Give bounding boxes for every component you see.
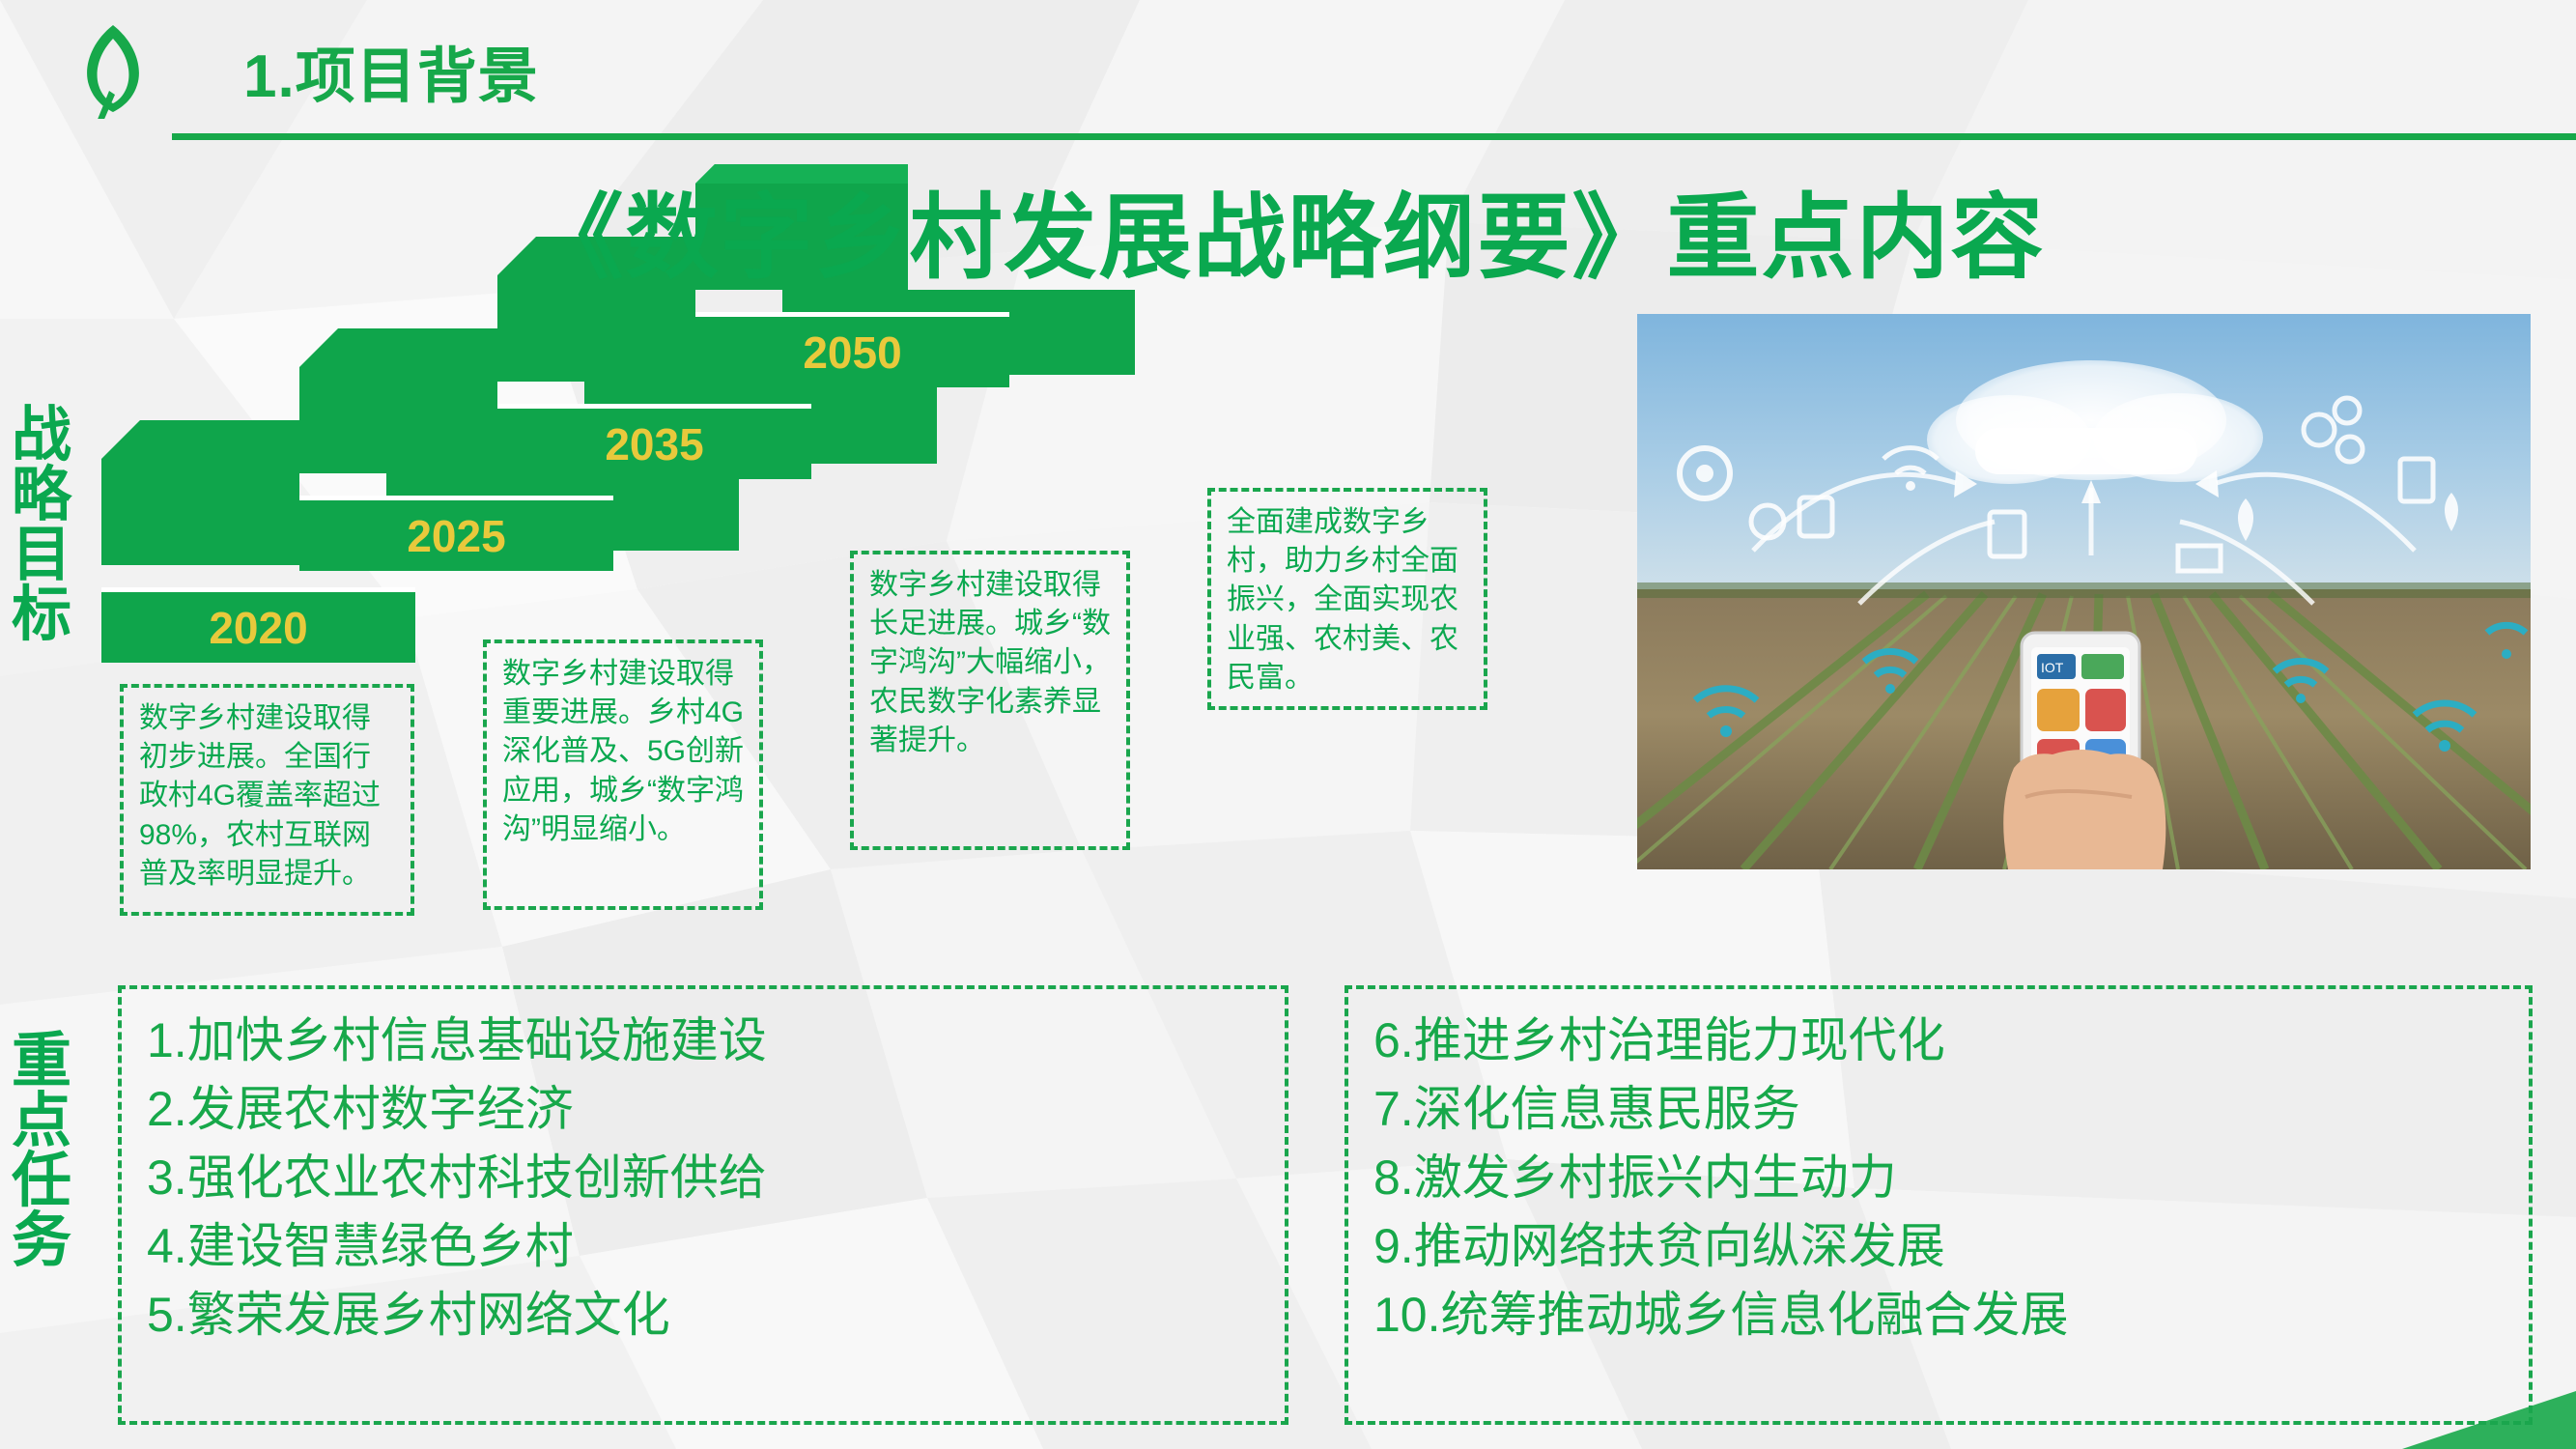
list-item: 1.加快乡村信息基础设施建设 — [147, 1007, 1260, 1075]
leaf-icon — [70, 17, 156, 119]
vlabel-char: 略 — [8, 466, 75, 526]
vlabel-char: 任 — [8, 1151, 75, 1211]
vlabel-char: 标 — [8, 585, 75, 645]
list-item: 2.发展农村数字经济 — [147, 1075, 1260, 1144]
timeline-year-2025: 2025 — [299, 496, 613, 571]
list-item: 4.建设智慧绿色乡村 — [147, 1212, 1260, 1281]
header-divider — [172, 133, 2576, 140]
list-item: 8.激发乡村振兴内生动力 — [1373, 1144, 2504, 1212]
page-title: 1.项目背景 — [243, 27, 539, 114]
year-text: 2050 — [803, 327, 901, 379]
year-text: 2035 — [605, 418, 703, 470]
list-item: 9.推动网络扶贫向纵深发展 — [1373, 1212, 2504, 1281]
year-text: 2025 — [407, 510, 505, 562]
iot-device-label: IOT — [2041, 660, 2064, 675]
strategy-goal-label: 战 略 目 标 — [8, 406, 75, 645]
key-task-label: 重 点 任 务 — [8, 1032, 75, 1271]
key-tasks-left-box: 1.加快乡村信息基础设施建设 2.发展农村数字经济 3.强化农业农村科技创新供给… — [118, 985, 1288, 1425]
list-item: 10.统筹推动城乡信息化融合发展 — [1373, 1281, 2504, 1350]
vlabel-char: 务 — [8, 1211, 75, 1271]
vlabel-char: 目 — [8, 526, 75, 585]
list-item: 6.推进乡村治理能力现代化 — [1373, 1007, 2504, 1075]
year-text: 2020 — [209, 602, 307, 654]
timeline-desc-2020: 数字乡村建设取得初步进展。全国行政村4G覆盖率超过98%，农村互联网普及率明显提… — [120, 684, 414, 916]
vlabel-char: 点 — [8, 1092, 75, 1151]
list-item: 5.繁荣发展乡村网络文化 — [147, 1281, 1260, 1350]
timeline-year-2050: 2050 — [695, 312, 1009, 387]
vlabel-char: 重 — [8, 1032, 75, 1092]
smart-agriculture-photo: IOT — [1637, 314, 2531, 869]
timeline-year-2020: 2020 — [101, 587, 415, 663]
vlabel-char: 战 — [8, 406, 75, 466]
key-tasks-right-box: 6.推进乡村治理能力现代化 7.深化信息惠民服务 8.激发乡村振兴内生动力 9.… — [1345, 985, 2533, 1425]
timeline-desc-2050: 全面建成数字乡村，助力乡村全面振兴，全面实现农业强、农村美、农民富。 — [1207, 488, 1487, 710]
slide-header: 1.项目背景 — [0, 0, 2576, 150]
list-item: 3.强化农业农村科技创新供给 — [147, 1144, 1260, 1212]
timeline-year-2035: 2035 — [497, 404, 811, 479]
timeline-desc-2035: 数字乡村建设取得长足进展。城乡“数字鸿沟”大幅缩小，农民数字化素养显著提升。 — [850, 551, 1130, 850]
timeline-desc-2025: 数字乡村建设取得重要进展。乡村4G深化普及、5G创新应用，城乡“数字鸿沟”明显缩… — [483, 639, 763, 910]
main-title: 《数字乡村发展战略纲要》重点内容 — [0, 162, 2576, 297]
list-item: 7.深化信息惠民服务 — [1373, 1075, 2504, 1144]
